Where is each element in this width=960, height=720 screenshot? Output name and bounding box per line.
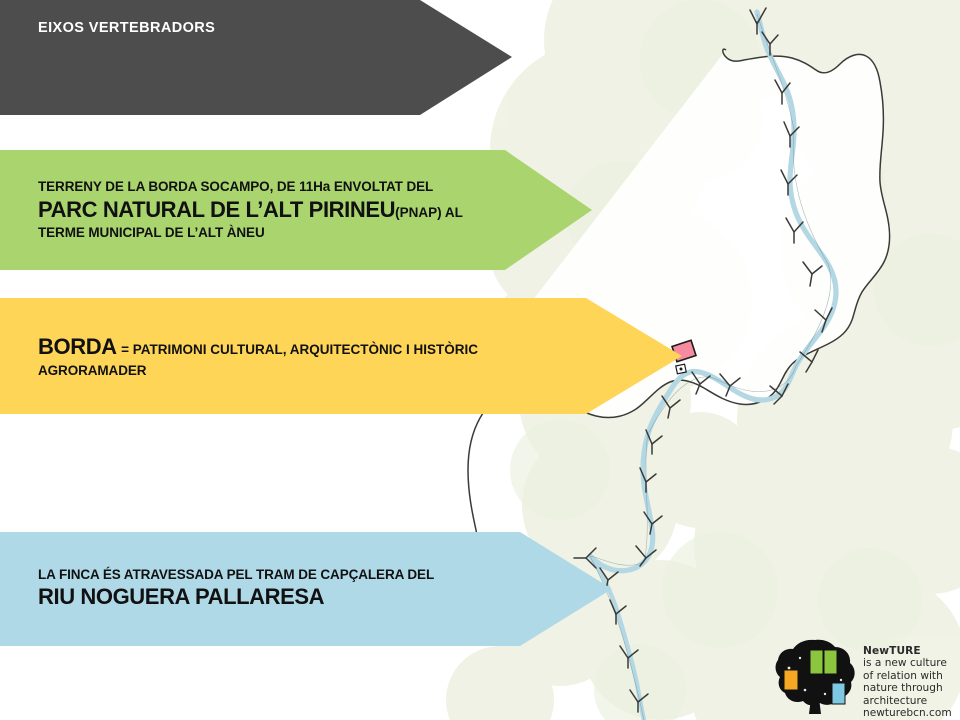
title-banner: EIXOS VERTEBRADORS — [0, 0, 512, 115]
logo-tagline-2: of relation with — [863, 670, 952, 682]
yellow-banner: BORDA = PATRIMONI CULTURAL, ARQUITECTÒNI… — [0, 298, 684, 414]
green-banner-text: TERRENY DE LA BORDA SOCAMPO, DE 11Ha ENV… — [0, 178, 573, 242]
blue-line-1: LA FINCA ÉS ATRAVESSADA PEL TRAM DE CAPÇ… — [38, 566, 434, 584]
green-line-2: PARC NATURAL DE L’ALT PIRINEU(PNAP) AL — [38, 196, 463, 225]
page-title: EIXOS VERTEBRADORS — [38, 19, 215, 38]
newture-tree-icon — [775, 638, 857, 718]
title-banner-text: EIXOS VERTEBRADORS — [0, 19, 215, 96]
blue-line-2: RIU NOGUERA PALLARESA — [38, 583, 434, 612]
logo-green-panel-2 — [824, 650, 837, 674]
logo-blue-panel — [832, 683, 845, 704]
newture-logo[interactable]: NewTURE is a new culture of relation wit… — [775, 638, 957, 718]
green-banner: TERRENY DE LA BORDA SOCAMPO, DE 11Ha ENV… — [0, 150, 594, 270]
slide-canvas: EIXOS VERTEBRADORS TERRENY DE LA BORDA S… — [0, 0, 960, 720]
green-line-2-strong: PARC NATURAL DE L’ALT PIRINEU — [38, 197, 395, 222]
logo-green-panel — [810, 650, 823, 674]
logo-website[interactable]: newturebcn.com — [863, 707, 952, 719]
logo-tagline-3: nature through — [863, 682, 952, 694]
green-line-3: TERME MUNICIPAL DE L’ALT ÀNEU — [38, 224, 463, 242]
blue-banner: LA FINCA ÉS ATRAVESSADA PEL TRAM DE CAPÇ… — [0, 532, 614, 646]
river-noguera-pallaresa — [590, 12, 836, 571]
blue-banner-text: LA FINCA ÉS ATRAVESSADA PEL TRAM DE CAPÇ… — [0, 566, 564, 612]
logo-brand: NewTURE — [863, 645, 952, 657]
yellow-line-1-strong: BORDA — [38, 334, 117, 359]
logo-tagline-1: is a new culture — [863, 657, 952, 669]
yellow-line-1: BORDA = PATRIMONI CULTURAL, ARQUITECTÒNI… — [38, 333, 478, 362]
logo-orange-panel — [784, 670, 798, 690]
yellow-line-2: AGRORAMADER — [38, 362, 478, 380]
yellow-line-1-suffix: = PATRIMONI CULTURAL, ARQUITECTÒNIC I HI… — [121, 342, 478, 357]
yellow-banner-text: BORDA = PATRIMONI CULTURAL, ARQUITECTÒNI… — [0, 333, 648, 379]
green-line-2-suffix: (PNAP) AL — [395, 205, 463, 220]
logo-tagline-4: architecture — [863, 695, 952, 707]
green-line-1: TERRENY DE LA BORDA SOCAMPO, DE 11Ha ENV… — [38, 178, 463, 196]
newture-logo-text: NewTURE is a new culture of relation wit… — [863, 638, 952, 719]
